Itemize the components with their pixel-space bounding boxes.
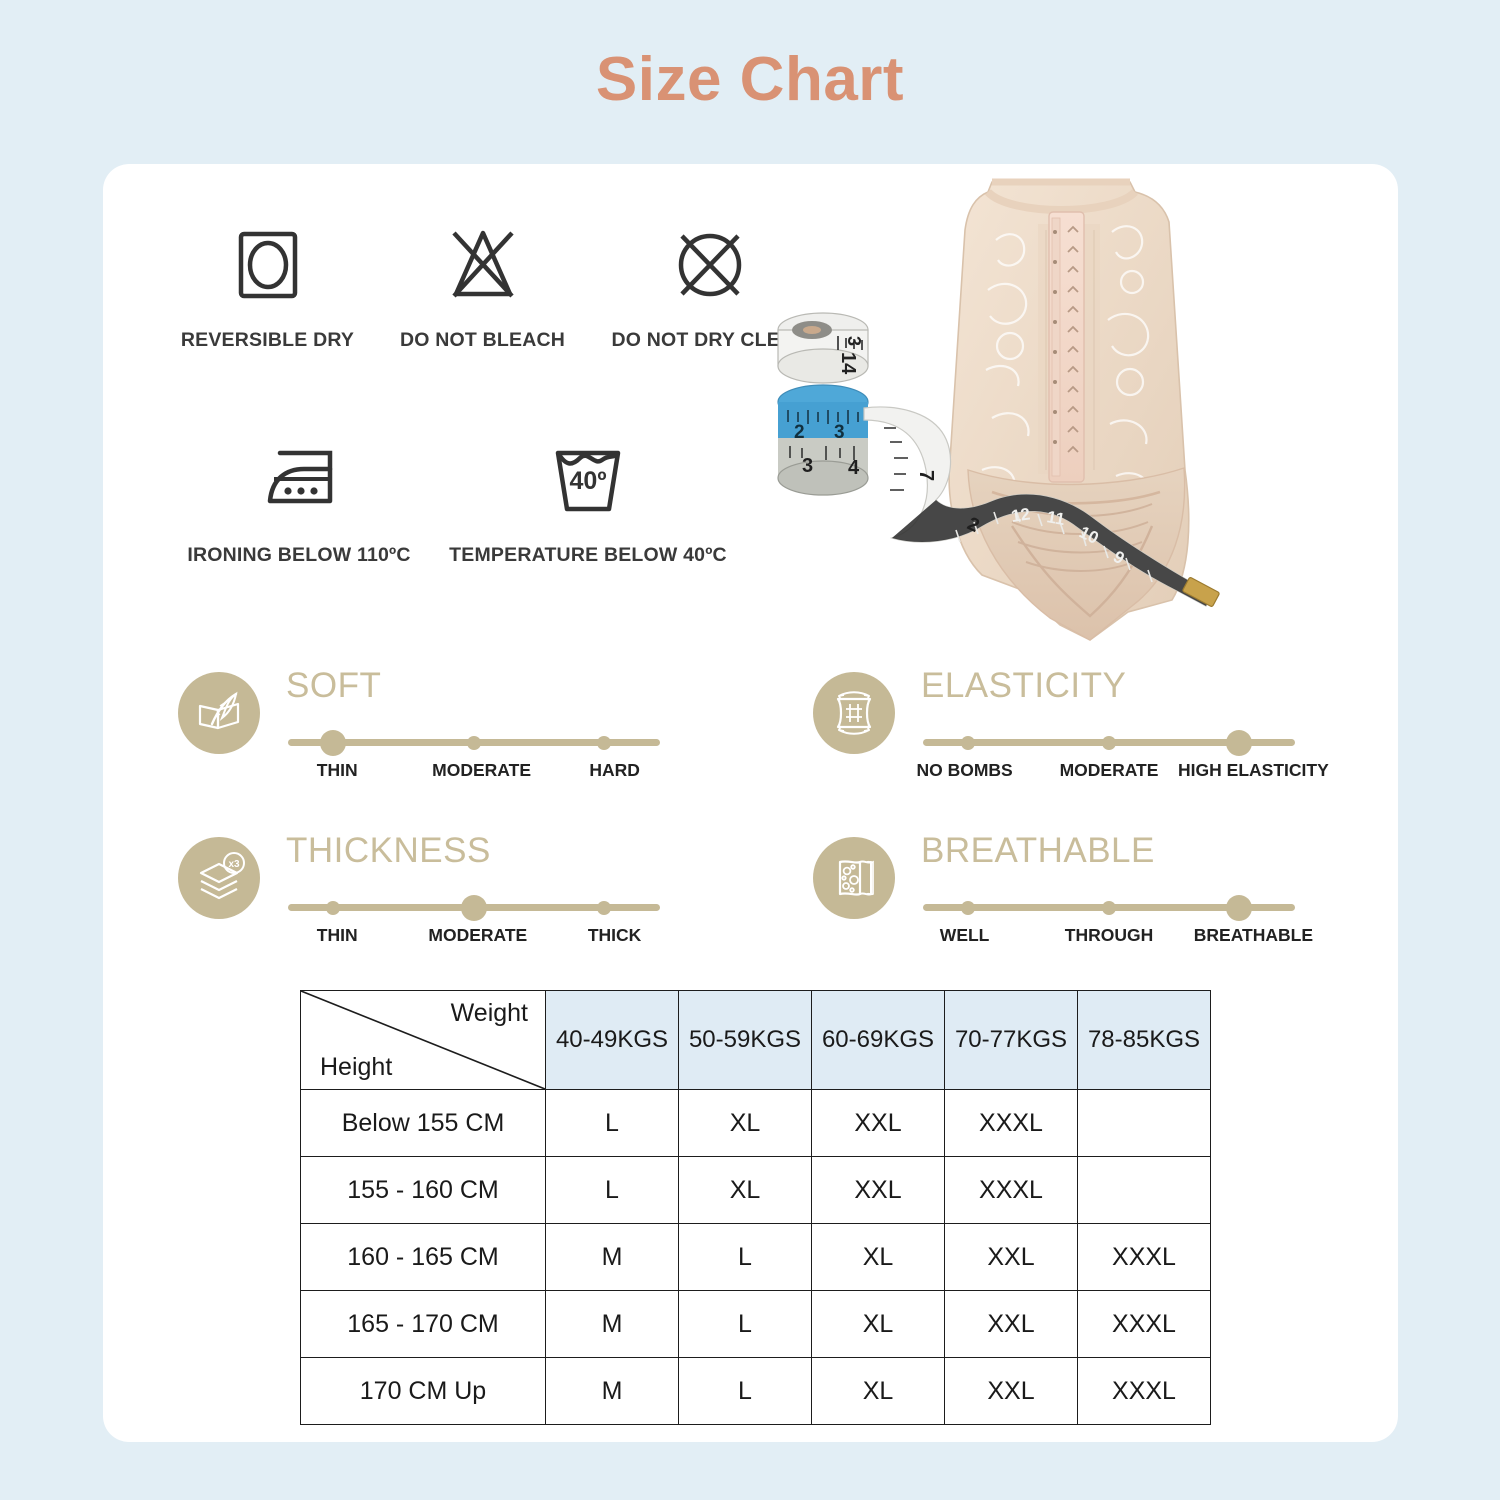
- tick-label: HARD: [589, 760, 640, 781]
- do-not-dry-clean-icon: [667, 215, 753, 315]
- attribute-thickness: x3 THICKNESS THIN MODERATE THICK: [178, 825, 708, 975]
- attribute-title: THICKNESS: [286, 831, 491, 871]
- slider-knob-moderate[interactable]: [467, 736, 481, 750]
- size-cell: XXXL: [1078, 1291, 1211, 1358]
- attribute-title: ELASTICITY: [921, 666, 1126, 706]
- size-table-wrapper: Weight Height 40-49KGS 50-59KGS 60-69KGS…: [300, 990, 1198, 1425]
- care-item-do-not-dry-clean: DO NOT DRY CLEAN: [590, 215, 830, 352]
- attribute-slider-thickness[interactable]: [288, 887, 660, 927]
- page-title: Size Chart: [0, 44, 1500, 115]
- tumble-dry-icon: [227, 215, 309, 315]
- size-cell: XL: [812, 1358, 945, 1425]
- size-cell: XXXL: [945, 1157, 1078, 1224]
- attribute-ticks: NO BOMBS MODERATE HIGH ELASTICITY: [919, 760, 1299, 788]
- wash-tub-icon: 40º: [538, 430, 638, 530]
- weight-column-header: 50-59KGS: [679, 991, 812, 1090]
- care-label: IRONING BELOW 110ºC: [187, 544, 410, 567]
- size-cell: L: [679, 1291, 812, 1358]
- table-row: 165 - 170 CM M L XL XXL XXXL: [301, 1291, 1211, 1358]
- size-cell: XXL: [945, 1358, 1078, 1425]
- height-row-header: 160 - 165 CM: [301, 1224, 546, 1291]
- size-cell: XXXL: [945, 1090, 1078, 1157]
- size-cell: L: [546, 1090, 679, 1157]
- tick-label: HIGH ELASTICITY: [1178, 760, 1329, 781]
- care-label: DO NOT DRY CLEAN: [611, 329, 808, 352]
- care-label: DO NOT BLEACH: [400, 329, 565, 352]
- height-row-header: 155 - 160 CM: [301, 1157, 546, 1224]
- table-corner-cell: Weight Height: [301, 991, 546, 1090]
- slider-knob-no-bombs[interactable]: [961, 736, 975, 750]
- layers-x3-icon: x3: [178, 837, 260, 919]
- slider-knob-thin[interactable]: [326, 901, 340, 915]
- slider-knob-hard[interactable]: [597, 736, 611, 750]
- svg-text:x3: x3: [228, 859, 240, 870]
- size-cell: [1078, 1157, 1211, 1224]
- slider-knob-well[interactable]: [961, 901, 975, 915]
- attribute-slider-soft[interactable]: [288, 722, 660, 762]
- height-row-header: 165 - 170 CM: [301, 1291, 546, 1358]
- weight-column-header: 70-77KGS: [945, 991, 1078, 1090]
- care-instructions-row-1: REVERSIBLE DRY DO NOT BLEACH DO NOT: [160, 215, 830, 352]
- size-cell: M: [546, 1358, 679, 1425]
- attribute-title: SOFT: [286, 666, 381, 706]
- slider-knob-thin[interactable]: [320, 730, 346, 756]
- size-cell: XXL: [812, 1090, 945, 1157]
- weight-column-header: 40-49KGS: [546, 991, 679, 1090]
- attribute-breathable: BREATHABLE WELL THROUGH BREATHABLE: [813, 825, 1343, 975]
- slider-knob-moderate[interactable]: [461, 895, 487, 921]
- size-cell: L: [546, 1157, 679, 1224]
- tick-label: THICK: [588, 925, 641, 946]
- care-item-ironing: IRONING BELOW 110ºC: [160, 430, 438, 567]
- attribute-ticks: WELL THROUGH BREATHABLE: [919, 925, 1299, 953]
- size-cell: XXL: [945, 1291, 1078, 1358]
- size-cell: XXL: [945, 1224, 1078, 1291]
- attribute-ticks: THIN MODERATE THICK: [284, 925, 664, 953]
- table-row: 155 - 160 CM L XL XXL XXXL: [301, 1157, 1211, 1224]
- size-cell: XXXL: [1078, 1358, 1211, 1425]
- size-cell: L: [679, 1224, 812, 1291]
- attribute-title: BREATHABLE: [921, 831, 1155, 871]
- height-row-header: 170 CM Up: [301, 1358, 546, 1425]
- stretch-fabric-icon: [813, 672, 895, 754]
- size-cell: XXXL: [1078, 1224, 1211, 1291]
- size-cell: XXL: [812, 1157, 945, 1224]
- iron-icon: [244, 430, 354, 530]
- table-header-row: Weight Height 40-49KGS 50-59KGS 60-69KGS…: [301, 991, 1211, 1090]
- attribute-soft: SOFT THIN MODERATE HARD: [178, 660, 708, 810]
- attribute-elasticity: ELASTICITY NO BOMBS MODERATE HIGH ELASTI…: [813, 660, 1343, 810]
- do-not-bleach-icon: [437, 215, 529, 315]
- size-cell: M: [546, 1291, 679, 1358]
- care-item-do-not-bleach: DO NOT BLEACH: [375, 215, 590, 352]
- feather-icon: [178, 672, 260, 754]
- attribute-slider-breathable[interactable]: [923, 887, 1295, 927]
- tick-label: THIN: [317, 925, 358, 946]
- care-label: TEMPERATURE BELOW 40ºC: [449, 544, 727, 567]
- size-cell: L: [679, 1358, 812, 1425]
- size-cell: XL: [812, 1291, 945, 1358]
- slider-knob-breathable[interactable]: [1226, 895, 1252, 921]
- weight-axis-label: Weight: [451, 999, 528, 1028]
- size-chart-page: Size Chart REVERSIBLE DRY DO NOT BLEACH: [0, 0, 1500, 1500]
- porous-fabric-icon: [813, 837, 895, 919]
- size-cell: [1078, 1090, 1211, 1157]
- weight-column-header: 60-69KGS: [812, 991, 945, 1090]
- slider-knob-moderate[interactable]: [1102, 736, 1116, 750]
- slider-knob-high-elasticity[interactable]: [1226, 730, 1252, 756]
- slider-knob-thick[interactable]: [597, 901, 611, 915]
- height-row-header: Below 155 CM: [301, 1090, 546, 1157]
- attribute-slider-elasticity[interactable]: [923, 722, 1295, 762]
- tick-label: NO BOMBS: [916, 760, 1012, 781]
- tick-label: BREATHABLE: [1194, 925, 1313, 946]
- care-label: REVERSIBLE DRY: [181, 329, 354, 352]
- weight-column-header: 78-85KGS: [1078, 991, 1211, 1090]
- size-cell: M: [546, 1224, 679, 1291]
- height-axis-label: Height: [320, 1053, 392, 1082]
- care-item-reversible-dry: REVERSIBLE DRY: [160, 215, 375, 352]
- tick-label: MODERATE: [1060, 760, 1159, 781]
- tick-label: MODERATE: [428, 925, 527, 946]
- svg-text:40º: 40º: [570, 467, 607, 495]
- table-row: 170 CM Up M L XL XXL XXXL: [301, 1358, 1211, 1425]
- tick-label: THIN: [317, 760, 358, 781]
- size-cell: XL: [679, 1157, 812, 1224]
- size-table: Weight Height 40-49KGS 50-59KGS 60-69KGS…: [300, 990, 1211, 1425]
- size-cell: XL: [812, 1224, 945, 1291]
- table-row: Below 155 CM L XL XXL XXXL: [301, 1090, 1211, 1157]
- care-instructions-row-2: IRONING BELOW 110ºC 40º TEMPERATURE BELO…: [160, 430, 738, 567]
- tick-label: MODERATE: [432, 760, 531, 781]
- size-cell: XL: [679, 1090, 812, 1157]
- care-item-wash-temperature: 40º TEMPERATURE BELOW 40ºC: [438, 430, 738, 567]
- table-row: 160 - 165 CM M L XL XXL XXXL: [301, 1224, 1211, 1291]
- tick-label: WELL: [940, 925, 990, 946]
- slider-knob-through[interactable]: [1102, 901, 1116, 915]
- attribute-ticks: THIN MODERATE HARD: [284, 760, 664, 788]
- tick-label: THROUGH: [1065, 925, 1153, 946]
